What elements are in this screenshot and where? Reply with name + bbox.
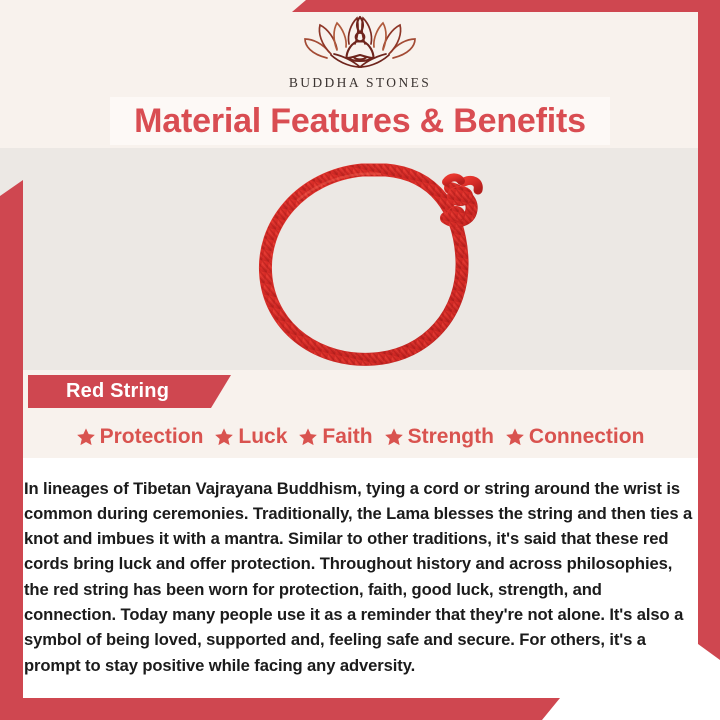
benefit-item-protection: Protection bbox=[76, 425, 204, 449]
star-icon bbox=[505, 427, 525, 447]
star-icon bbox=[298, 427, 318, 447]
star-icon bbox=[214, 427, 234, 447]
benefit-label: Luck bbox=[238, 425, 287, 449]
brand-name: BUDDHA STONES bbox=[289, 75, 431, 91]
benefit-label: Connection bbox=[529, 425, 645, 449]
product-tag-label: Red String bbox=[28, 380, 169, 403]
benefit-label: Strength bbox=[408, 425, 494, 449]
benefit-item-strength: Strength bbox=[384, 425, 494, 449]
benefit-label: Protection bbox=[100, 425, 204, 449]
product-tag: Red String bbox=[28, 375, 231, 408]
decorative-bar-right bbox=[698, 0, 720, 660]
page-title: Material Features & Benefits bbox=[134, 102, 586, 141]
benefit-item-faith: Faith bbox=[298, 425, 372, 449]
decorative-bar-bottom bbox=[0, 698, 560, 720]
benefits-list: ProtectionLuckFaithStrengthConnection bbox=[0, 420, 720, 454]
brand-logo: BUDDHA STONES bbox=[0, 14, 720, 91]
page-title-banner: Material Features & Benefits bbox=[110, 97, 610, 145]
description-text: In lineages of Tibetan Vajrayana Buddhis… bbox=[24, 476, 694, 678]
star-icon bbox=[76, 427, 96, 447]
lotus-meditation-icon bbox=[301, 14, 419, 72]
infographic-page: BUDDHA STONES Material Features & Benefi… bbox=[0, 0, 720, 720]
star-icon bbox=[384, 427, 404, 447]
benefit-item-connection: Connection bbox=[505, 425, 645, 449]
benefit-label: Faith bbox=[322, 425, 372, 449]
benefit-item-luck: Luck bbox=[214, 425, 287, 449]
product-image bbox=[228, 152, 500, 377]
decorative-bar-top bbox=[292, 0, 720, 12]
